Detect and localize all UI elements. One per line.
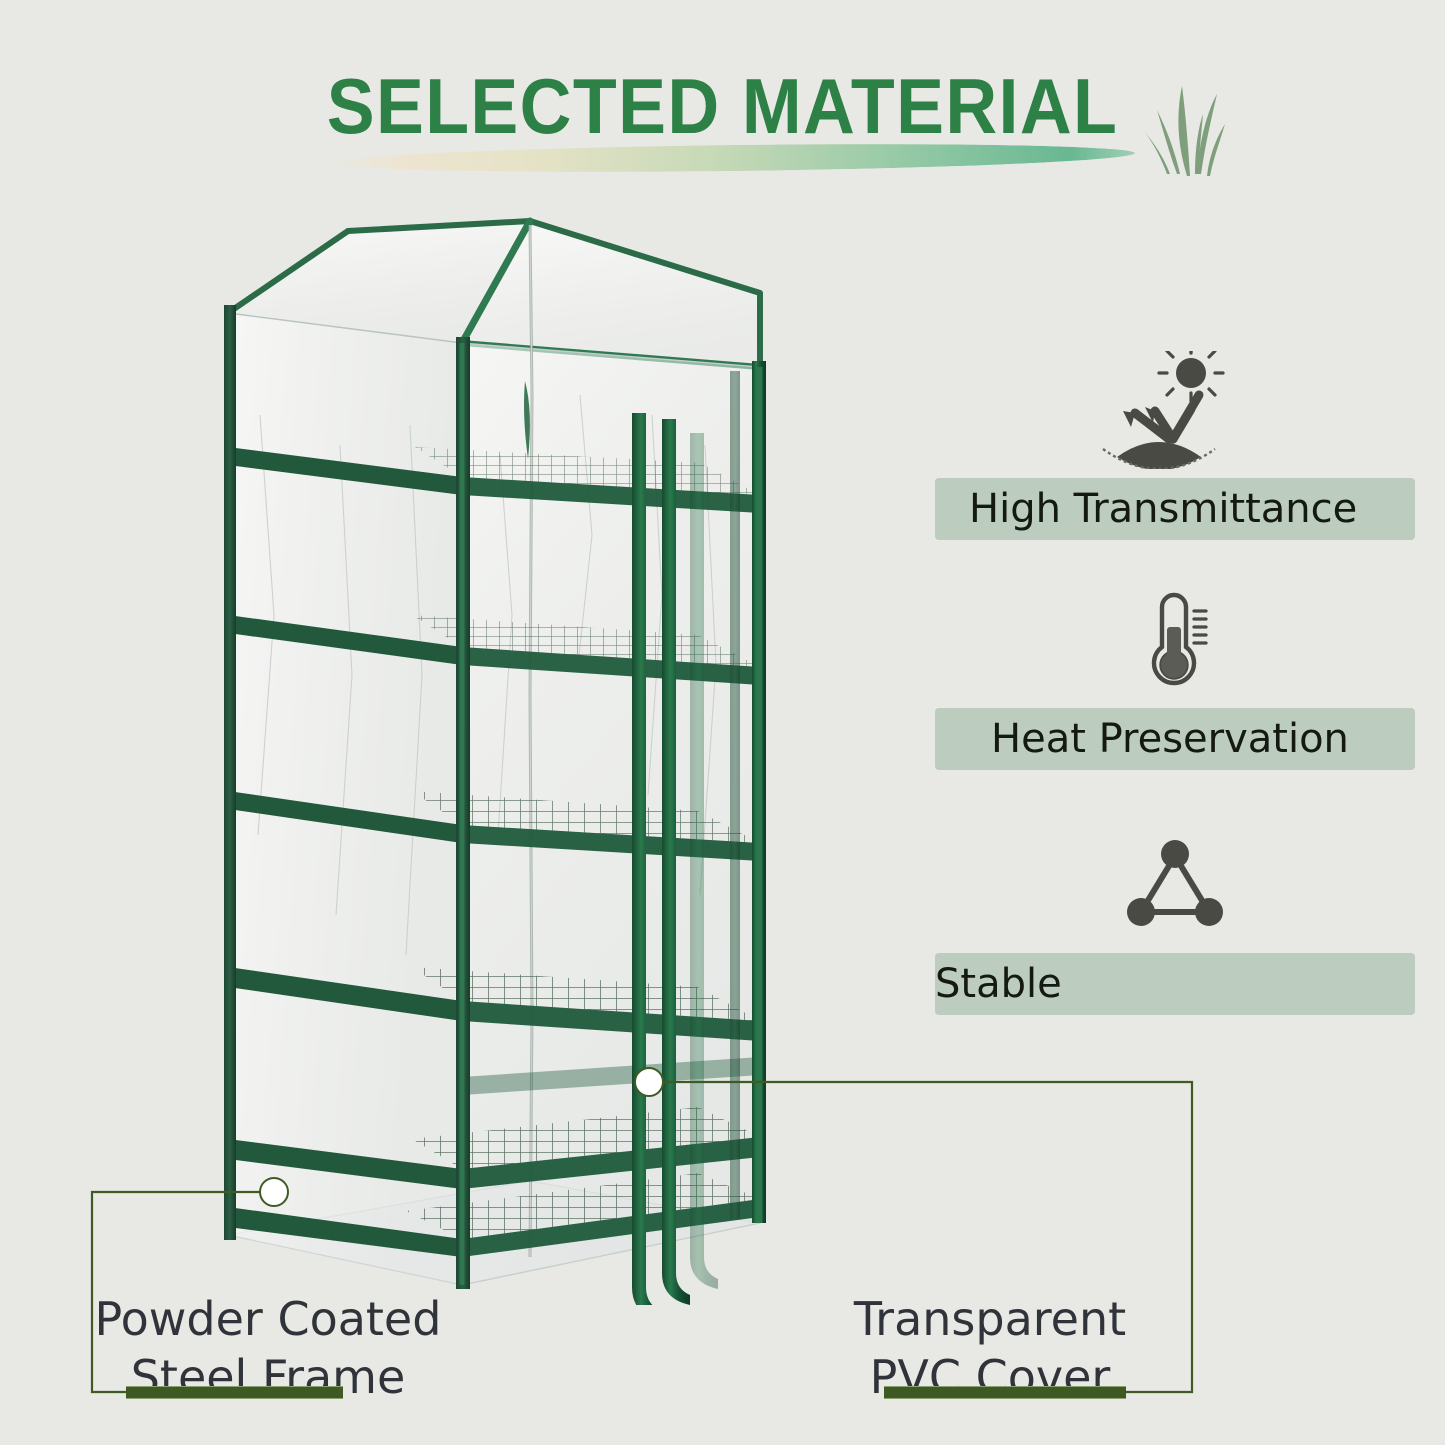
callout-dot-pvc-cover [634, 1067, 664, 1097]
callout-underline-steel-frame [126, 1386, 343, 1399]
infographic-canvas: SELECTED MATERIAL [0, 0, 1445, 1445]
callout-dot-steel-frame [259, 1177, 289, 1207]
callout-underline-pvc-cover [884, 1386, 1126, 1399]
callout-connector-lines [0, 0, 1445, 1445]
